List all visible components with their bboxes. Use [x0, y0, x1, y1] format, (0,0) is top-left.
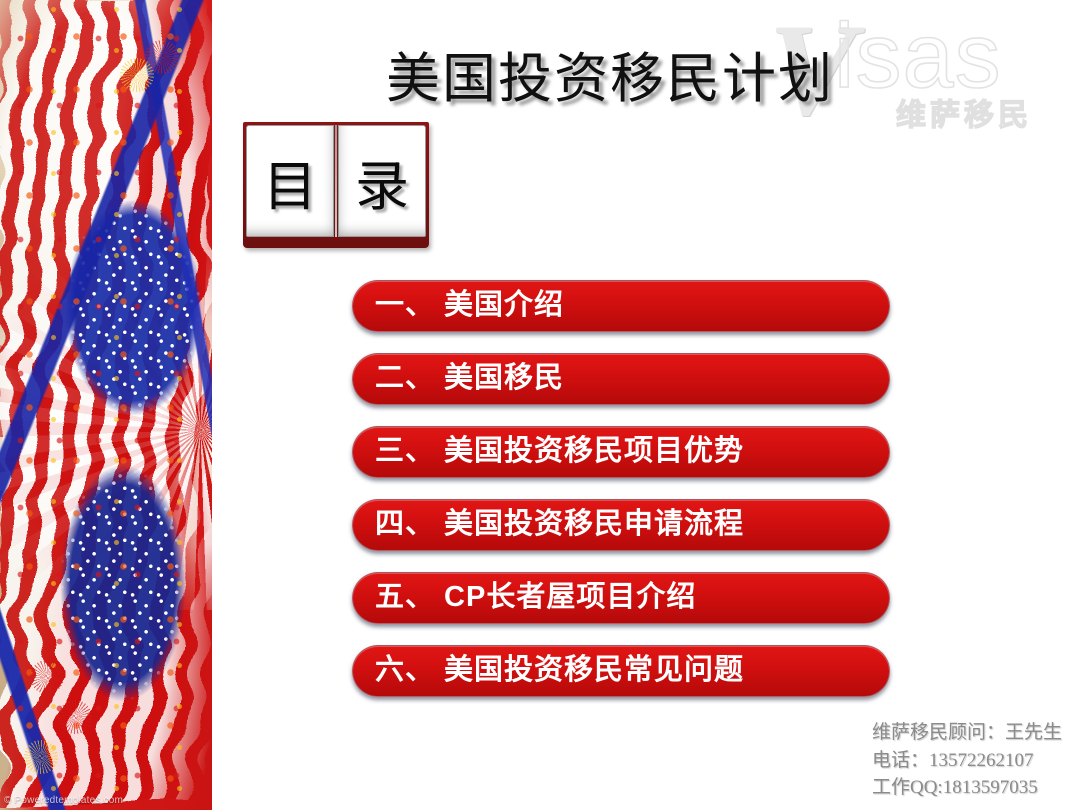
page-title: 美国投资移民计划 [300, 34, 920, 113]
toc-item-label: 二、 美国移民 [353, 364, 564, 393]
firework-icon [120, 58, 154, 92]
book-gutter [335, 125, 337, 237]
toc-item-1[interactable]: 一、 美国介绍 [352, 280, 890, 332]
book-page-left: 目 [246, 125, 334, 237]
contact-consultant: 维萨移民顾问：王先生 [872, 719, 1062, 747]
book-page-right: 录 [338, 125, 426, 237]
toc-item-label: 五、 CP长者屋项目介绍 [353, 583, 696, 612]
open-book-icon: 目 录 [243, 122, 429, 248]
firework-icon [30, 660, 64, 694]
flag-artwork-panel: © Poweredtemplates.com [0, 0, 212, 810]
toc-item-label: 四、 美国投资移民申请流程 [353, 510, 744, 539]
contact-info-block: 维萨移民顾问：王先生 电话：13572262107 工作QQ:181359703… [872, 719, 1062, 802]
firework-icon [24, 740, 58, 774]
template-credit-watermark: © Poweredtemplates.com [4, 795, 123, 806]
toc-item-3[interactable]: 三、 美国投资移民项目优势 [352, 426, 890, 478]
firework-icon [58, 700, 92, 734]
contact-qq: 工作QQ:1813597035 [872, 774, 1062, 802]
table-of-contents-list: 一、 美国介绍 二、 美国移民 三、 美国投资移民项目优势 四、 美国投资移民申… [352, 280, 892, 718]
toc-item-6[interactable]: 六、 美国投资移民常见问题 [352, 645, 890, 697]
toc-item-label: 三、 美国投资移民项目优势 [353, 437, 744, 466]
toc-item-2[interactable]: 二、 美国移民 [352, 353, 890, 405]
contact-phone: 电话：13572262107 [872, 747, 1062, 775]
toc-item-4[interactable]: 四、 美国投资移民申请流程 [352, 499, 890, 551]
toc-item-label: 六、 美国投资移民常见问题 [353, 656, 744, 685]
toc-item-5[interactable]: 五、 CP长者屋项目介绍 [352, 572, 890, 624]
confetti-dots [0, 0, 212, 810]
toc-item-label: 一、 美国介绍 [353, 291, 564, 320]
presentation-slide: © Poweredtemplates.com V isas 维萨移民 美国投资移… [0, 0, 1080, 810]
